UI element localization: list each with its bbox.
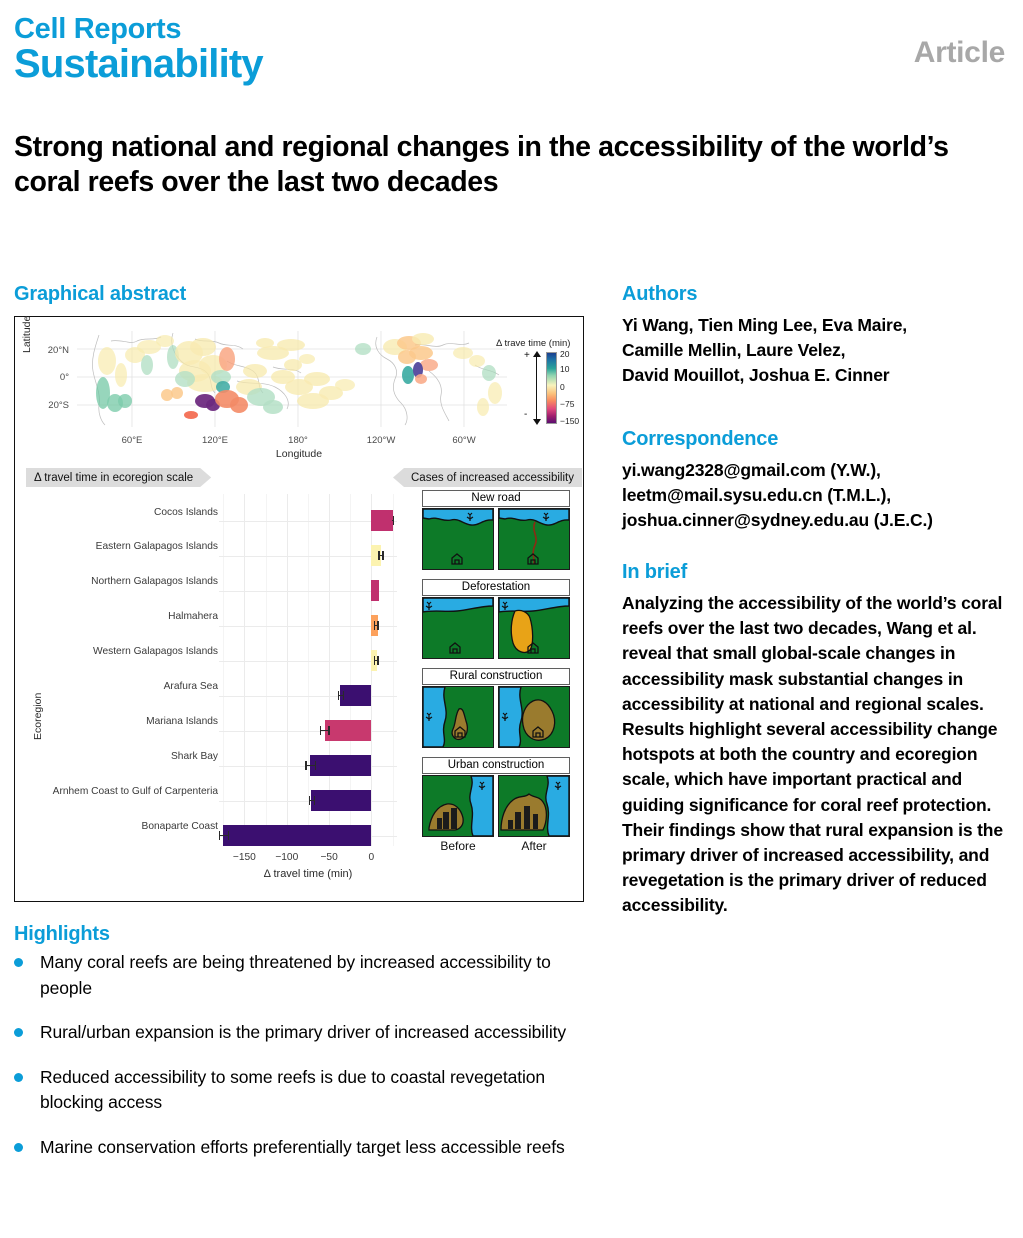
bar-x-tick: −50 — [309, 852, 349, 863]
case-image-after — [498, 686, 570, 748]
case-image-before — [422, 597, 494, 659]
map-svg — [77, 331, 507, 427]
map-x-tick: 60°E — [107, 435, 157, 446]
legend-direction-arrow-icon — [536, 356, 537, 420]
error-bar-cap — [377, 621, 378, 630]
error-bar-cap — [219, 831, 220, 840]
before-label: Before — [422, 839, 494, 853]
correspondence-email[interactable]: leetm@mail.sysu.edu.cn (T.M.L.), — [622, 483, 1012, 508]
map-y-tick: 0° — [29, 372, 69, 383]
case-panels: New road — [422, 490, 577, 862]
bullet-icon — [14, 1073, 23, 1082]
error-bar — [305, 765, 314, 766]
gridline — [393, 494, 394, 846]
bar — [311, 790, 371, 811]
bullet-icon — [14, 1143, 23, 1152]
bar-plot-area — [219, 494, 397, 846]
error-bar-cap — [377, 656, 378, 665]
map-y-tick: 20°S — [29, 400, 69, 411]
bar-category-label: Bonaparte Coast — [142, 821, 218, 832]
bar-x-tick: −150 — [224, 852, 264, 863]
bullet-icon — [14, 958, 23, 967]
correspondence-email[interactable]: yi.wang2328@gmail.com (Y.W.), — [622, 458, 1012, 483]
author-line: David Mouillot, Joshua E. Cinner — [622, 363, 1012, 388]
bar — [223, 825, 371, 846]
map-x-axis-title: Longitude — [15, 448, 583, 460]
legend-minus-label: - — [524, 409, 527, 420]
bar-category-label: Arnhem Coast to Gulf of Carpenteria — [53, 786, 218, 797]
bullet-icon — [14, 1028, 23, 1037]
gridline — [219, 661, 397, 662]
in-brief-heading: In brief — [622, 561, 687, 584]
bar-category-label: Shark Bay — [171, 751, 218, 762]
error-bar-cap — [328, 726, 329, 735]
bar-category-label: Northern Galapagos Islands — [91, 576, 218, 587]
bar-x-axis-title: Δ travel time (min) — [219, 868, 397, 880]
journal-name-line2: Sustainability — [14, 43, 263, 85]
case-title: Deforestation — [422, 579, 570, 596]
case-block-rural-construction: Rural construction — [422, 668, 577, 748]
before-after-labels: Before After — [422, 839, 570, 853]
case-image-after — [498, 508, 570, 570]
error-bar-cap — [309, 796, 310, 805]
map-y-tick: 20°N — [29, 345, 69, 356]
list-item: Rural/urban expansion is the primary dri… — [14, 1020, 594, 1046]
journal-masthead: Cell Reports Sustainability — [14, 14, 263, 85]
after-label: After — [498, 839, 570, 853]
highlight-text: Reduced accessibility to some reefs is d… — [40, 1065, 580, 1116]
highlight-text: Rural/urban expansion is the primary dri… — [40, 1020, 580, 1046]
graphical-abstract-heading: Graphical abstract — [14, 283, 186, 306]
case-image-pair — [422, 508, 577, 570]
error-bar-cap — [320, 726, 321, 735]
journal-name-line1: Cell Reports — [14, 14, 263, 45]
graphical-abstract-page: Cell Reports Sustainability Article Stro… — [0, 0, 1023, 1238]
gridline — [219, 591, 397, 592]
bar-category-label: Mariana Islands — [146, 716, 218, 727]
case-image-pair — [422, 775, 577, 837]
legend-plus-label: + — [524, 350, 530, 361]
error-bar-cap — [314, 796, 315, 805]
in-brief-paragraph: Analyzing the accessibility of the world… — [622, 591, 1012, 919]
authors-list: Yi Wang, Tien Ming Lee, Eva Maire, Camil… — [622, 313, 1012, 389]
case-title: Urban construction — [422, 757, 570, 774]
author-line: Camille Mellin, Laure Velez, — [622, 338, 1012, 363]
highlights-list: Many coral reefs are being threatened by… — [14, 950, 594, 1179]
authors-heading: Authors — [622, 283, 697, 306]
error-bar-cap — [305, 761, 306, 770]
bar-category-label: Halmahera — [168, 611, 218, 622]
gridline — [219, 521, 397, 522]
gridline — [266, 494, 267, 846]
legend-tick: −75 — [560, 399, 574, 409]
case-title: New road — [422, 490, 570, 507]
error-bar-cap — [378, 551, 379, 560]
gridline — [287, 494, 288, 846]
error-bar-cap — [343, 691, 344, 700]
error-bar-cap — [374, 621, 375, 630]
gridline — [244, 494, 245, 846]
map-x-tick: 120°E — [190, 435, 240, 446]
correspondence-email[interactable]: joshua.cinner@sydney.edu.au (J.E.C.) — [622, 508, 1012, 533]
case-image-before — [422, 686, 494, 748]
error-bar-cap — [315, 761, 316, 770]
gridline — [308, 494, 309, 846]
article-type-tag: Article — [914, 36, 1005, 70]
in-brief-text: Analyzing the accessibility of the world… — [622, 591, 1012, 919]
error-bar-cap — [338, 691, 339, 700]
case-title: Rural construction — [422, 668, 570, 685]
bar — [371, 510, 392, 531]
case-image-pair — [422, 686, 577, 748]
case-image-before — [422, 508, 494, 570]
ribbon-label-cases: Cases of increased accessibility — [393, 468, 582, 487]
error-bar-cap — [393, 516, 394, 525]
case-image-after — [498, 775, 570, 837]
legend-tick: −150 — [560, 416, 579, 426]
bar-x-tick: −100 — [267, 852, 307, 863]
map-canvas — [77, 331, 507, 427]
error-bar-cap — [382, 551, 383, 560]
ecoregion-bar-chart: Ecoregion Cocos Islands Eastern Galapago… — [14, 490, 414, 890]
legend-tick: 10 — [560, 364, 569, 374]
correspondence-list: yi.wang2328@gmail.com (Y.W.), leetm@mail… — [622, 458, 1012, 534]
correspondence-heading: Correspondence — [622, 428, 778, 451]
map-legend: + - 20 10 0 −75 −150 — [524, 352, 588, 426]
map-x-tick: 120°W — [356, 435, 406, 446]
bar-category-label: Western Galapagos Islands — [93, 646, 218, 657]
legend-colorbar — [546, 352, 557, 424]
highlights-heading: Highlights — [14, 923, 110, 946]
page-title: Strong national and regional changes in … — [14, 130, 999, 200]
gridline — [219, 626, 397, 627]
author-line: Yi Wang, Tien Ming Lee, Eva Maire, — [622, 313, 1012, 338]
list-item: Marine conservation efforts preferential… — [14, 1135, 594, 1161]
bar — [325, 720, 372, 741]
case-block-urban-construction: Urban construction — [422, 757, 577, 853]
bar — [340, 685, 371, 706]
bar — [310, 755, 371, 776]
highlight-text: Marine conservation efforts preferential… — [40, 1135, 580, 1161]
gridline — [223, 494, 224, 846]
bar-category-label: Eastern Galapagos Islands — [96, 541, 218, 552]
map-legend-title: Δ trave time (min) — [496, 338, 570, 349]
bar-category-label: Cocos Islands — [154, 507, 218, 518]
list-item: Many coral reefs are being threatened by… — [14, 950, 594, 1001]
error-bar-cap — [228, 831, 229, 840]
case-block-new-road: New road — [422, 490, 577, 570]
error-bar-cap — [374, 656, 375, 665]
map-x-tick: 180° — [273, 435, 323, 446]
list-item: Reduced accessibility to some reefs is d… — [14, 1065, 594, 1116]
case-image-after — [498, 597, 570, 659]
bar-x-tick: 0 — [351, 852, 391, 863]
legend-tick: 0 — [560, 382, 565, 392]
bar — [371, 580, 379, 601]
case-image-pair — [422, 597, 577, 659]
case-block-deforestation: Deforestation — [422, 579, 577, 659]
case-image-before — [422, 775, 494, 837]
legend-tick: 20 — [560, 349, 569, 359]
bar-category-label: Arafura Sea — [164, 681, 218, 692]
bar-y-axis-title: Ecoregion — [32, 693, 44, 740]
highlight-text: Many coral reefs are being threatened by… — [40, 950, 580, 1001]
gridline — [219, 556, 397, 557]
ribbon-label-ecoregion: Δ travel time in ecoregion scale — [26, 468, 211, 487]
map-x-tick: 60°W — [439, 435, 489, 446]
